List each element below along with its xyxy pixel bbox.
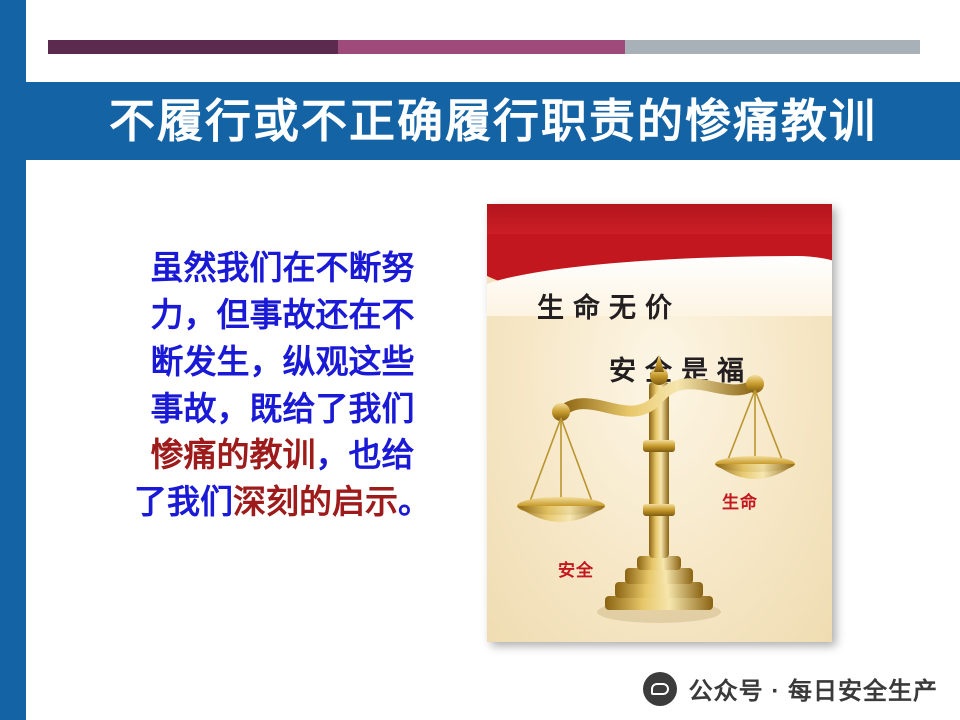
footer-watermark: 公众号 · 每日安全生产 [643,671,938,706]
body-line-text: 。 [398,483,431,520]
wechat-icon [643,672,677,706]
slide-title-bar: 不履行或不正确履行职责的惨痛教训 [26,82,960,160]
body-line-highlight: 惨痛的教训 [151,436,316,473]
body-paragraph: 虽然我们在不断努 力，但事故还在不 断发生，纵观这些 事故，既给了我们 惨痛的教… [110,245,455,526]
body-line-text: ，也给 [316,436,415,473]
body-line: 了我们深刻的启示。 [110,479,455,526]
body-line: 虽然我们在不断努 [110,245,455,292]
body-line: 力，但事故还在不 [110,292,455,339]
decorative-top-bar [48,40,920,54]
body-line-text: 事故，既给了我们 [151,390,415,427]
poster-headline-line1: 生命无价 [537,286,681,325]
body-line: 断发生，纵观这些 [110,339,455,386]
body-line: 惨痛的教训，也给 [110,432,455,479]
body-line-text: 断发生，纵观这些 [151,343,415,380]
poster-headline-line2: 安全是福 [609,349,753,388]
deco-segment-3 [625,40,920,54]
safety-poster-image: 生命无价 安全是福 [487,204,832,642]
pan-label-left: 安全 [541,562,611,580]
page-title: 不履行或不正确履行职责的惨痛教训 [109,98,877,144]
left-accent-bar [0,0,26,720]
body-line-highlight: 深刻的启示 [233,483,398,520]
body-line-text: 虽然我们在不断努 [151,249,415,286]
pan-label-right: 生命 [705,494,775,512]
footer-text: 公众号 · 每日安全生产 [689,671,938,706]
body-line-text: 力，但事故还在不 [151,296,415,333]
deco-segment-2 [338,40,626,54]
deco-segment-1 [48,40,338,54]
body-line: 事故，既给了我们 [110,386,455,433]
body-line-text: 了我们 [134,483,233,520]
